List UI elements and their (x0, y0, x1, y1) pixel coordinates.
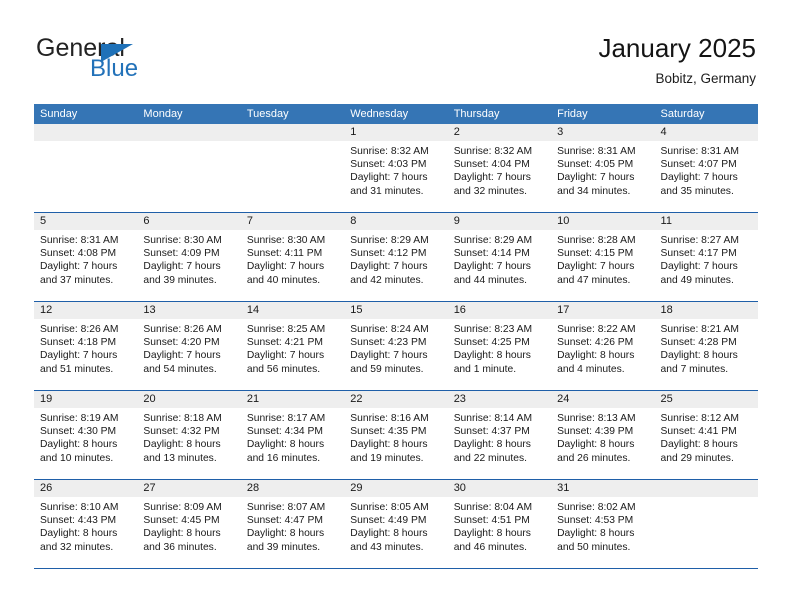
day-cell[interactable]: Sunrise: 8:30 AMSunset: 4:11 PMDaylight:… (241, 230, 344, 301)
day-number[interactable]: 27 (137, 480, 240, 497)
week-content-band: Sunrise: 8:32 AMSunset: 4:03 PMDaylight:… (34, 141, 758, 212)
day-detail-line: Sunset: 4:43 PM (40, 514, 131, 527)
day-detail-line: Sunrise: 8:26 AM (143, 323, 234, 336)
day-detail-line: Sunset: 4:28 PM (661, 336, 752, 349)
weekday-header-monday: Monday (137, 104, 240, 124)
day-cell[interactable]: Sunrise: 8:22 AMSunset: 4:26 PMDaylight:… (551, 319, 654, 390)
day-detail-line: and 10 minutes. (40, 452, 131, 465)
day-detail-line: Daylight: 7 hours (143, 260, 234, 273)
day-detail-line: Daylight: 8 hours (661, 349, 752, 362)
day-number[interactable]: 5 (34, 213, 137, 230)
day-detail-line: Sunrise: 8:07 AM (247, 501, 338, 514)
calendar-grid: SundayMondayTuesdayWednesdayThursdayFrid… (34, 104, 758, 569)
day-detail-line: and 31 minutes. (350, 185, 441, 198)
week-content-band: Sunrise: 8:26 AMSunset: 4:18 PMDaylight:… (34, 319, 758, 390)
day-number[interactable]: 12 (34, 302, 137, 319)
day-detail-line: Sunset: 4:25 PM (454, 336, 545, 349)
week-daynumber-band: 262728293031 (34, 480, 758, 497)
calendar-week-row: 12131415161718Sunrise: 8:26 AMSunset: 4:… (34, 302, 758, 391)
day-cell[interactable]: Sunrise: 8:17 AMSunset: 4:34 PMDaylight:… (241, 408, 344, 479)
week-content-band: Sunrise: 8:19 AMSunset: 4:30 PMDaylight:… (34, 408, 758, 479)
calendar-page: General Blue January 2025 Bobitz, German… (0, 0, 792, 612)
day-number[interactable]: 25 (655, 391, 758, 408)
logo-text-blue: Blue (90, 56, 138, 82)
day-detail-line: Sunset: 4:11 PM (247, 247, 338, 260)
day-detail-line: Daylight: 8 hours (247, 438, 338, 451)
day-detail-line: Sunset: 4:23 PM (350, 336, 441, 349)
weekday-header-saturday: Saturday (655, 104, 758, 124)
day-cell[interactable]: Sunrise: 8:32 AMSunset: 4:03 PMDaylight:… (344, 141, 447, 212)
weekday-header-friday: Friday (551, 104, 654, 124)
day-detail-line: Sunset: 4:30 PM (40, 425, 131, 438)
day-detail-line: Sunset: 4:14 PM (454, 247, 545, 260)
day-number[interactable]: 17 (551, 302, 654, 319)
day-detail-line: Sunrise: 8:30 AM (143, 234, 234, 247)
day-detail-line: Sunset: 4:09 PM (143, 247, 234, 260)
day-detail-line: Sunrise: 8:31 AM (661, 145, 752, 158)
weekday-header-wednesday: Wednesday (344, 104, 447, 124)
day-detail-line: Sunset: 4:05 PM (557, 158, 648, 171)
day-detail-line: Sunrise: 8:12 AM (661, 412, 752, 425)
day-cell[interactable]: Sunrise: 8:02 AMSunset: 4:53 PMDaylight:… (551, 497, 654, 568)
day-detail-line: Sunrise: 8:13 AM (557, 412, 648, 425)
day-detail-line: and 50 minutes. (557, 541, 648, 554)
day-detail-line: and 16 minutes. (247, 452, 338, 465)
day-detail-line: Daylight: 8 hours (454, 438, 545, 451)
day-detail-line: Sunrise: 8:18 AM (143, 412, 234, 425)
weekday-header-tuesday: Tuesday (241, 104, 344, 124)
day-detail-line: and 32 minutes. (454, 185, 545, 198)
day-cell-empty (655, 497, 758, 568)
day-number[interactable]: 23 (448, 391, 551, 408)
day-number[interactable]: 19 (34, 391, 137, 408)
day-detail-line: Sunset: 4:04 PM (454, 158, 545, 171)
day-number[interactable]: 29 (344, 480, 447, 497)
day-number[interactable]: 24 (551, 391, 654, 408)
calendar-weeks: 1234Sunrise: 8:32 AMSunset: 4:03 PMDayli… (34, 124, 758, 569)
day-detail-line: Sunrise: 8:19 AM (40, 412, 131, 425)
day-number[interactable]: 8 (344, 213, 447, 230)
day-number-empty (34, 124, 137, 141)
day-detail-line: and 42 minutes. (350, 274, 441, 287)
calendar-week-row: 19202122232425Sunrise: 8:19 AMSunset: 4:… (34, 391, 758, 480)
day-cell[interactable]: Sunrise: 8:21 AMSunset: 4:28 PMDaylight:… (655, 319, 758, 390)
day-cell[interactable]: Sunrise: 8:28 AMSunset: 4:15 PMDaylight:… (551, 230, 654, 301)
day-detail-line: Sunrise: 8:31 AM (557, 145, 648, 158)
day-detail-line: Daylight: 7 hours (557, 171, 648, 184)
day-detail-line: and 4 minutes. (557, 363, 648, 376)
day-cell-empty (137, 141, 240, 212)
day-detail-line: and 39 minutes. (143, 274, 234, 287)
day-detail-line: Sunrise: 8:29 AM (350, 234, 441, 247)
day-detail-line: Daylight: 7 hours (350, 349, 441, 362)
day-number[interactable]: 30 (448, 480, 551, 497)
day-cell[interactable]: Sunrise: 8:31 AMSunset: 4:05 PMDaylight:… (551, 141, 654, 212)
day-detail-line: Sunset: 4:26 PM (557, 336, 648, 349)
day-cell[interactable]: Sunrise: 8:26 AMSunset: 4:20 PMDaylight:… (137, 319, 240, 390)
day-number[interactable]: 31 (551, 480, 654, 497)
day-detail-line: Daylight: 8 hours (350, 438, 441, 451)
day-cell-empty (34, 141, 137, 212)
day-number[interactable]: 15 (344, 302, 447, 319)
day-detail-line: Sunset: 4:39 PM (557, 425, 648, 438)
day-number[interactable]: 1 (344, 124, 447, 141)
day-number[interactable]: 7 (241, 213, 344, 230)
day-cell[interactable]: Sunrise: 8:31 AMSunset: 4:08 PMDaylight:… (34, 230, 137, 301)
day-detail-line: Sunrise: 8:32 AM (454, 145, 545, 158)
day-cell[interactable]: Sunrise: 8:29 AMSunset: 4:12 PMDaylight:… (344, 230, 447, 301)
day-detail-line: Sunrise: 8:29 AM (454, 234, 545, 247)
week-daynumber-band: 19202122232425 (34, 391, 758, 408)
day-cell[interactable]: Sunrise: 8:16 AMSunset: 4:35 PMDaylight:… (344, 408, 447, 479)
day-detail-line: Sunrise: 8:24 AM (350, 323, 441, 336)
day-detail-line: Sunset: 4:41 PM (661, 425, 752, 438)
day-cell[interactable]: Sunrise: 8:25 AMSunset: 4:21 PMDaylight:… (241, 319, 344, 390)
day-detail-line: and 35 minutes. (661, 185, 752, 198)
day-detail-line: and 37 minutes. (40, 274, 131, 287)
day-detail-line: Daylight: 7 hours (247, 349, 338, 362)
day-detail-line: Sunrise: 8:27 AM (661, 234, 752, 247)
day-detail-line: Sunset: 4:17 PM (661, 247, 752, 260)
day-detail-line: Sunrise: 8:32 AM (350, 145, 441, 158)
day-number[interactable]: 26 (34, 480, 137, 497)
day-detail-line: Sunset: 4:08 PM (40, 247, 131, 260)
day-detail-line: Sunrise: 8:10 AM (40, 501, 131, 514)
day-number[interactable]: 16 (448, 302, 551, 319)
day-detail-line: Daylight: 7 hours (350, 260, 441, 273)
day-cell[interactable]: Sunrise: 8:30 AMSunset: 4:09 PMDaylight:… (137, 230, 240, 301)
day-cell[interactable]: Sunrise: 8:32 AMSunset: 4:04 PMDaylight:… (448, 141, 551, 212)
day-detail-line: Sunrise: 8:21 AM (661, 323, 752, 336)
day-cell[interactable]: Sunrise: 8:24 AMSunset: 4:23 PMDaylight:… (344, 319, 447, 390)
weekday-header-thursday: Thursday (448, 104, 551, 124)
calendar-week-row: 1234Sunrise: 8:32 AMSunset: 4:03 PMDayli… (34, 124, 758, 213)
day-detail-line: Daylight: 7 hours (661, 171, 752, 184)
day-number[interactable]: 18 (655, 302, 758, 319)
day-detail-line: Sunrise: 8:04 AM (454, 501, 545, 514)
day-detail-line: Sunset: 4:21 PM (247, 336, 338, 349)
day-detail-line: Daylight: 8 hours (557, 438, 648, 451)
day-cell[interactable]: Sunrise: 8:31 AMSunset: 4:07 PMDaylight:… (655, 141, 758, 212)
day-detail-line: Sunrise: 8:14 AM (454, 412, 545, 425)
day-detail-line: Sunrise: 8:09 AM (143, 501, 234, 514)
day-detail-line: Sunset: 4:34 PM (247, 425, 338, 438)
day-cell[interactable]: Sunrise: 8:09 AMSunset: 4:45 PMDaylight:… (137, 497, 240, 568)
day-cell[interactable]: Sunrise: 8:27 AMSunset: 4:17 PMDaylight:… (655, 230, 758, 301)
day-number[interactable]: 3 (551, 124, 654, 141)
day-detail-line: Sunrise: 8:26 AM (40, 323, 131, 336)
day-number[interactable]: 22 (344, 391, 447, 408)
weekday-header-sunday: Sunday (34, 104, 137, 124)
day-detail-line: and 13 minutes. (143, 452, 234, 465)
day-detail-line: Daylight: 8 hours (143, 527, 234, 540)
day-detail-line: and 29 minutes. (661, 452, 752, 465)
day-detail-line: and 32 minutes. (40, 541, 131, 554)
day-cell[interactable]: Sunrise: 8:19 AMSunset: 4:30 PMDaylight:… (34, 408, 137, 479)
day-detail-line: Daylight: 7 hours (40, 349, 131, 362)
day-number[interactable]: 13 (137, 302, 240, 319)
day-cell[interactable]: Sunrise: 8:05 AMSunset: 4:49 PMDaylight:… (344, 497, 447, 568)
day-detail-line: Sunset: 4:32 PM (143, 425, 234, 438)
day-cell[interactable]: Sunrise: 8:04 AMSunset: 4:51 PMDaylight:… (448, 497, 551, 568)
day-detail-line: Sunset: 4:37 PM (454, 425, 545, 438)
day-detail-line: Sunset: 4:53 PM (557, 514, 648, 527)
day-detail-line: Daylight: 8 hours (557, 527, 648, 540)
week-daynumber-band: 1234 (34, 124, 758, 141)
day-detail-line: and 1 minute. (454, 363, 545, 376)
page-header: General Blue January 2025 Bobitz, German… (0, 0, 792, 104)
week-daynumber-band: 12131415161718 (34, 302, 758, 319)
day-detail-line: Sunrise: 8:05 AM (350, 501, 441, 514)
day-number[interactable]: 11 (655, 213, 758, 230)
day-detail-line: and 49 minutes. (661, 274, 752, 287)
week-daynumber-band: 567891011 (34, 213, 758, 230)
day-detail-line: Daylight: 8 hours (557, 349, 648, 362)
day-detail-line: Sunrise: 8:31 AM (40, 234, 131, 247)
day-detail-line: Sunset: 4:07 PM (661, 158, 752, 171)
day-detail-line: Sunrise: 8:22 AM (557, 323, 648, 336)
day-detail-line: and 44 minutes. (454, 274, 545, 287)
day-detail-line: Daylight: 7 hours (40, 260, 131, 273)
day-detail-line: and 39 minutes. (247, 541, 338, 554)
title-block: January 2025 Bobitz, Germany (598, 32, 756, 87)
day-detail-line: Daylight: 8 hours (40, 527, 131, 540)
day-detail-line: Daylight: 8 hours (143, 438, 234, 451)
day-detail-line: and 46 minutes. (454, 541, 545, 554)
day-detail-line: Daylight: 7 hours (143, 349, 234, 362)
day-detail-line: Sunset: 4:15 PM (557, 247, 648, 260)
day-detail-line: Sunset: 4:20 PM (143, 336, 234, 349)
day-cell[interactable]: Sunrise: 8:29 AMSunset: 4:14 PMDaylight:… (448, 230, 551, 301)
day-detail-line: Daylight: 7 hours (350, 171, 441, 184)
day-detail-line: Sunrise: 8:02 AM (557, 501, 648, 514)
day-detail-line: Daylight: 7 hours (247, 260, 338, 273)
day-detail-line: and 47 minutes. (557, 274, 648, 287)
day-detail-line: Daylight: 8 hours (454, 527, 545, 540)
day-number[interactable]: 28 (241, 480, 344, 497)
week-content-band: Sunrise: 8:10 AMSunset: 4:43 PMDaylight:… (34, 497, 758, 568)
day-cell[interactable]: Sunrise: 8:26 AMSunset: 4:18 PMDaylight:… (34, 319, 137, 390)
calendar-week-row: 567891011Sunrise: 8:31 AMSunset: 4:08 PM… (34, 213, 758, 302)
general-blue-logo[interactable]: General Blue (36, 34, 256, 90)
day-detail-line: Sunset: 4:45 PM (143, 514, 234, 527)
day-number[interactable]: 20 (137, 391, 240, 408)
day-number[interactable]: 21 (241, 391, 344, 408)
day-number[interactable]: 10 (551, 213, 654, 230)
weekday-header-row: SundayMondayTuesdayWednesdayThursdayFrid… (34, 104, 758, 124)
day-cell[interactable]: Sunrise: 8:23 AMSunset: 4:25 PMDaylight:… (448, 319, 551, 390)
day-detail-line: Sunset: 4:18 PM (40, 336, 131, 349)
day-detail-line: Daylight: 7 hours (454, 171, 545, 184)
day-number[interactable]: 14 (241, 302, 344, 319)
day-number-empty (655, 480, 758, 497)
day-number[interactable]: 4 (655, 124, 758, 141)
day-detail-line: Sunrise: 8:28 AM (557, 234, 648, 247)
day-detail-line: and 51 minutes. (40, 363, 131, 376)
day-detail-line: and 56 minutes. (247, 363, 338, 376)
day-detail-line: Daylight: 7 hours (557, 260, 648, 273)
day-cell[interactable]: Sunrise: 8:10 AMSunset: 4:43 PMDaylight:… (34, 497, 137, 568)
day-cell[interactable]: Sunrise: 8:14 AMSunset: 4:37 PMDaylight:… (448, 408, 551, 479)
day-detail-line: Daylight: 8 hours (350, 527, 441, 540)
day-detail-line: and 59 minutes. (350, 363, 441, 376)
day-detail-line: Daylight: 8 hours (40, 438, 131, 451)
day-detail-line: Sunset: 4:51 PM (454, 514, 545, 527)
day-number[interactable]: 9 (448, 213, 551, 230)
day-number[interactable]: 6 (137, 213, 240, 230)
day-cell[interactable]: Sunrise: 8:13 AMSunset: 4:39 PMDaylight:… (551, 408, 654, 479)
day-detail-line: Sunrise: 8:25 AM (247, 323, 338, 336)
day-detail-line: Daylight: 8 hours (247, 527, 338, 540)
day-detail-line: Sunrise: 8:23 AM (454, 323, 545, 336)
day-number[interactable]: 2 (448, 124, 551, 141)
day-detail-line: Sunset: 4:35 PM (350, 425, 441, 438)
day-detail-line: and 22 minutes. (454, 452, 545, 465)
day-detail-line: Daylight: 7 hours (454, 260, 545, 273)
day-detail-line: and 43 minutes. (350, 541, 441, 554)
day-number-empty (241, 124, 344, 141)
day-detail-line: and 26 minutes. (557, 452, 648, 465)
day-cell[interactable]: Sunrise: 8:18 AMSunset: 4:32 PMDaylight:… (137, 408, 240, 479)
day-detail-line: Daylight: 8 hours (661, 438, 752, 451)
day-detail-line: and 54 minutes. (143, 363, 234, 376)
day-detail-line: Sunrise: 8:30 AM (247, 234, 338, 247)
week-content-band: Sunrise: 8:31 AMSunset: 4:08 PMDaylight:… (34, 230, 758, 301)
day-cell[interactable]: Sunrise: 8:12 AMSunset: 4:41 PMDaylight:… (655, 408, 758, 479)
day-detail-line: and 19 minutes. (350, 452, 441, 465)
day-detail-line: Sunset: 4:47 PM (247, 514, 338, 527)
calendar-week-row: 262728293031Sunrise: 8:10 AMSunset: 4:43… (34, 480, 758, 569)
day-detail-line: Sunset: 4:12 PM (350, 247, 441, 260)
day-number-empty (137, 124, 240, 141)
day-detail-line: Sunrise: 8:16 AM (350, 412, 441, 425)
page-title: January 2025 (598, 32, 756, 64)
day-detail-line: Sunset: 4:03 PM (350, 158, 441, 171)
day-detail-line: Daylight: 8 hours (454, 349, 545, 362)
day-cell-empty (241, 141, 344, 212)
day-detail-line: and 34 minutes. (557, 185, 648, 198)
day-detail-line: Sunset: 4:49 PM (350, 514, 441, 527)
day-detail-line: and 7 minutes. (661, 363, 752, 376)
page-subtitle: Bobitz, Germany (598, 70, 756, 87)
day-detail-line: Sunrise: 8:17 AM (247, 412, 338, 425)
day-detail-line: and 40 minutes. (247, 274, 338, 287)
day-cell[interactable]: Sunrise: 8:07 AMSunset: 4:47 PMDaylight:… (241, 497, 344, 568)
day-detail-line: and 36 minutes. (143, 541, 234, 554)
day-detail-line: Daylight: 7 hours (661, 260, 752, 273)
